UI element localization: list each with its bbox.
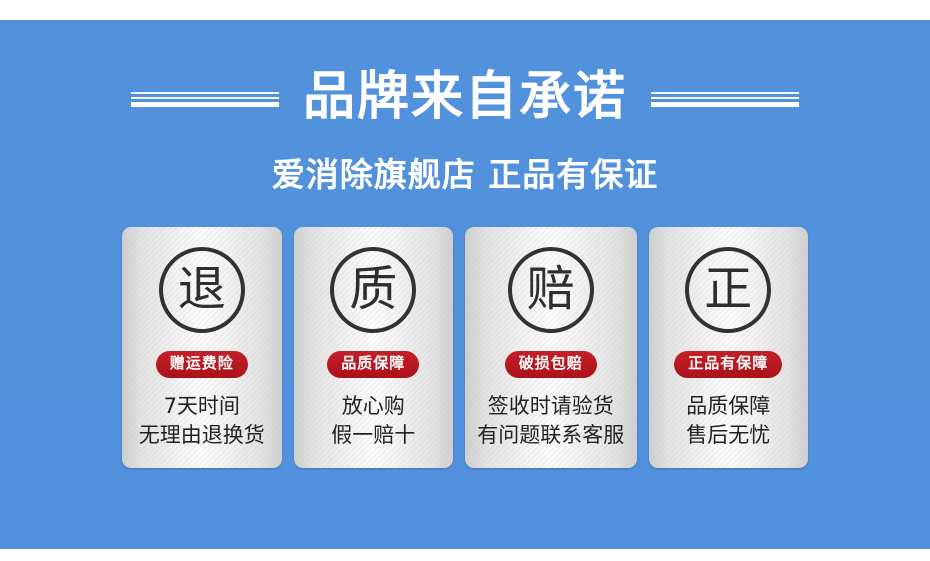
title-row: 品牌来自承诺 <box>0 60 930 134</box>
guarantee-card[interactable]: 正 正品有保障 品质保障 售后无忧 <box>649 227 809 468</box>
card-desc-line2: 假一赔十 <box>331 421 415 450</box>
genuine-seal-icon: 正 <box>685 247 771 333</box>
card-desc-line2: 售后无忧 <box>686 421 770 450</box>
decoration-lines-right <box>651 92 799 107</box>
banner-subtitle: 爱消除旗舰店 正品有保证 <box>0 148 930 196</box>
card-desc-line1: 签收时请验货 <box>488 394 614 418</box>
banner-title: 品牌来自承诺 <box>303 71 627 123</box>
guarantee-card[interactable]: 质 品质保障 放心购 假一赔十 <box>294 227 454 468</box>
quality-seal-icon: 质 <box>330 247 416 333</box>
card-description: 放心购 假一赔十 <box>331 392 415 450</box>
card-desc-line1: 品质保障 <box>686 394 770 418</box>
card-desc-line2: 无理由退换货 <box>139 421 265 450</box>
promo-banner: 品牌来自承诺 爱消除旗舰店 正品有保证 退 赠运费险 7天时间 无理由退换货 <box>0 0 930 561</box>
card-description: 签收时请验货 有问题联系客服 <box>477 392 624 450</box>
status-badge: 破损包赔 <box>505 351 597 378</box>
status-badge: 赠运费险 <box>156 351 248 378</box>
decoration-lines-left <box>131 92 279 107</box>
card-description: 7天时间 无理由退换货 <box>139 392 265 450</box>
compensation-seal-icon: 赔 <box>508 247 594 333</box>
status-badge: 品质保障 <box>327 351 419 378</box>
status-badge: 正品有保障 <box>674 351 782 378</box>
card-description: 品质保障 售后无忧 <box>686 392 770 450</box>
banner-header: 品牌来自承诺 爱消除旗舰店 正品有保证 <box>0 60 930 196</box>
guarantee-card[interactable]: 退 赠运费险 7天时间 无理由退换货 <box>122 227 282 468</box>
guarantee-card-list: 退 赠运费险 7天时间 无理由退换货 质 品质保障 放心购 假一赔十 <box>122 227 808 468</box>
card-desc-line1: 放心购 <box>342 394 405 418</box>
guarantee-card[interactable]: 赔 破损包赔 签收时请验货 有问题联系客服 <box>465 227 636 468</box>
return-seal-icon: 退 <box>159 247 245 333</box>
card-desc-line2: 有问题联系客服 <box>477 421 624 450</box>
card-desc-line1: 7天时间 <box>164 394 240 418</box>
